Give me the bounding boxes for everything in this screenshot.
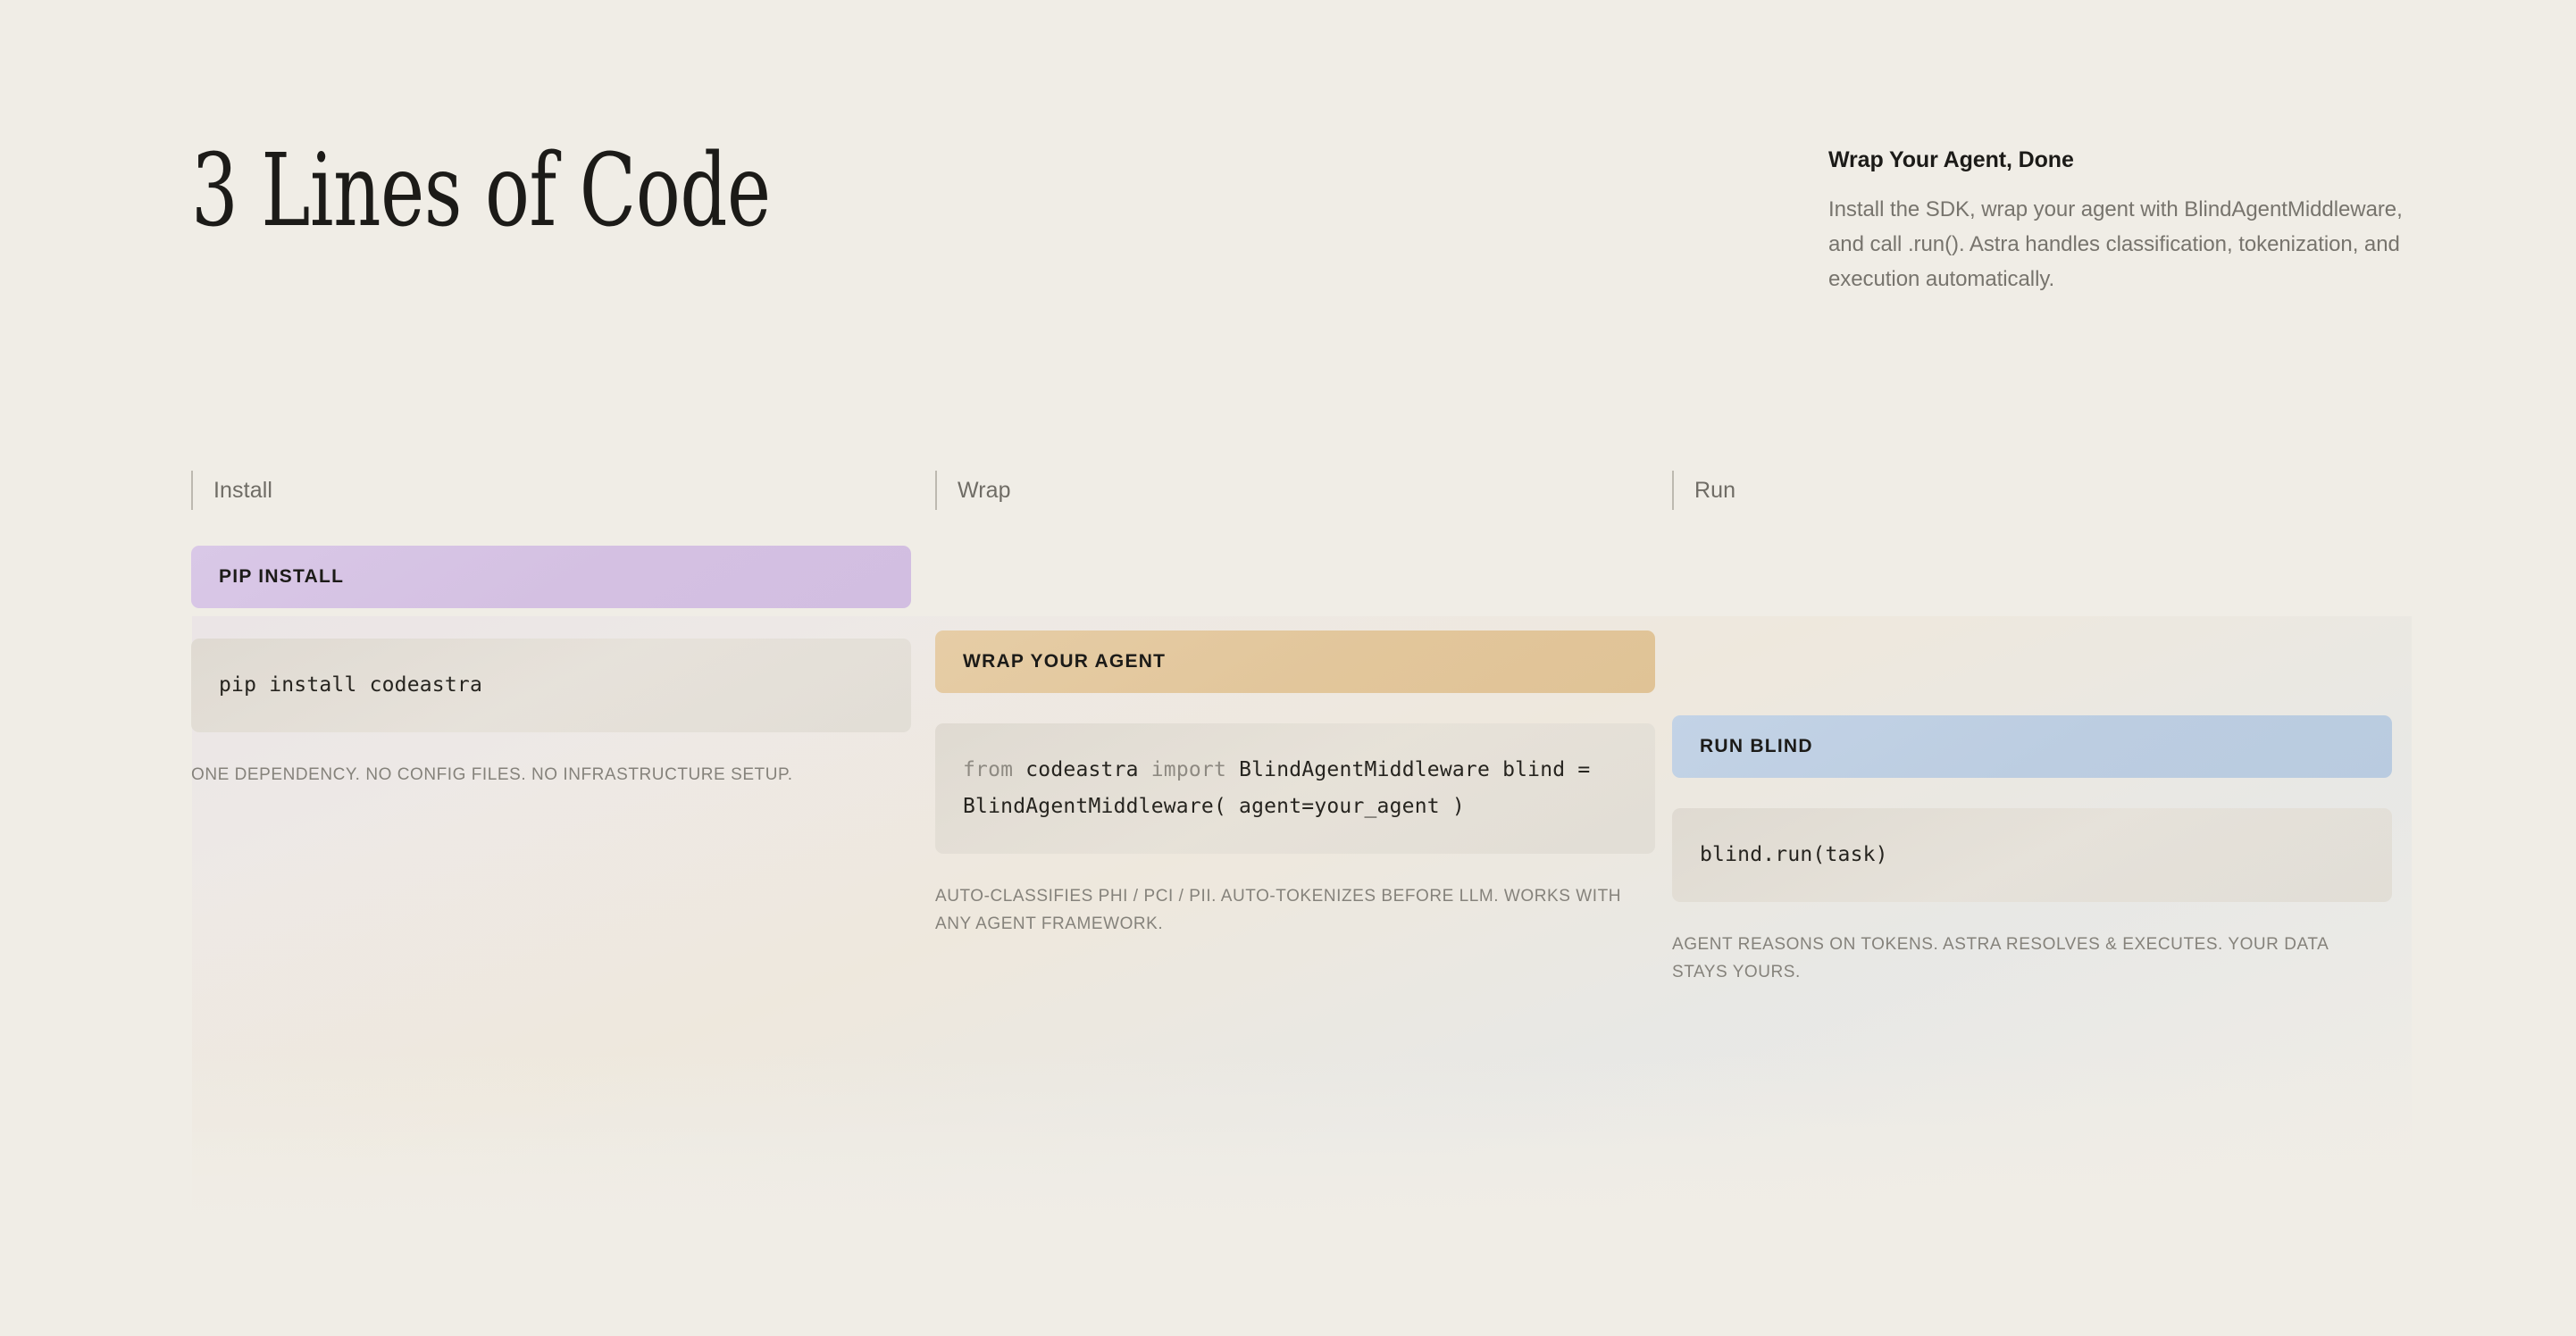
step-column-install: Install PIP INSTALL pip install codeastr… bbox=[191, 0, 911, 1336]
code-keyword-import: import bbox=[1151, 758, 1226, 781]
column-rule-icon bbox=[935, 471, 937, 510]
column-label: Wrap bbox=[958, 478, 1011, 504]
step-stack-install: PIP INSTALL pip install codeastra ONE DE… bbox=[191, 546, 911, 789]
pill-wrap-your-agent[interactable]: WRAP YOUR AGENT bbox=[935, 630, 1655, 693]
column-rule-icon bbox=[191, 471, 193, 510]
code-line: from codeastra import BlindAgentMiddlewa… bbox=[963, 752, 1627, 825]
step-column-wrap: Wrap WRAP YOUR AGENT from codeastra impo… bbox=[935, 0, 1655, 1336]
code-text-1: codeastra bbox=[1013, 758, 1151, 781]
caption-install: ONE DEPENDENCY. NO CONFIG FILES. NO INFR… bbox=[191, 761, 897, 789]
code-line: blind.run(task) bbox=[1700, 837, 2364, 873]
pill-pip-install[interactable]: PIP INSTALL bbox=[191, 546, 911, 608]
pill-label: PIP INSTALL bbox=[219, 566, 344, 588]
pill-label: RUN BLIND bbox=[1700, 736, 1813, 757]
code-keyword-from: from bbox=[963, 758, 1013, 781]
pill-label: WRAP YOUR AGENT bbox=[963, 651, 1166, 672]
caption-run: AGENT REASONS ON TOKENS. ASTRA RESOLVES … bbox=[1672, 931, 2378, 987]
column-label: Install bbox=[213, 478, 272, 504]
column-header-run: Run bbox=[1672, 471, 1735, 510]
column-label: Run bbox=[1694, 478, 1735, 504]
step-stack-run: RUN BLIND blind.run(task) AGENT REASONS … bbox=[1672, 715, 2392, 987]
column-header-wrap: Wrap bbox=[935, 471, 1011, 510]
step-stack-wrap: WRAP YOUR AGENT from codeastra import Bl… bbox=[935, 630, 1655, 939]
pill-run-blind[interactable]: RUN BLIND bbox=[1672, 715, 2392, 778]
step-column-run: Run RUN BLIND blind.run(task) AGENT REAS… bbox=[1672, 0, 2392, 1336]
column-rule-icon bbox=[1672, 471, 1674, 510]
code-block-install[interactable]: pip install codeastra bbox=[191, 639, 911, 732]
code-block-run[interactable]: blind.run(task) bbox=[1672, 808, 2392, 902]
caption-wrap: AUTO-CLASSIFIES PHI / PCI / PII. AUTO-TO… bbox=[935, 882, 1641, 939]
steps-columns: Install PIP INSTALL pip install codeastr… bbox=[0, 0, 2576, 1336]
code-line: pip install codeastra bbox=[219, 667, 883, 704]
code-block-wrap[interactable]: from codeastra import BlindAgentMiddlewa… bbox=[935, 723, 1655, 854]
column-header-install: Install bbox=[191, 471, 272, 510]
